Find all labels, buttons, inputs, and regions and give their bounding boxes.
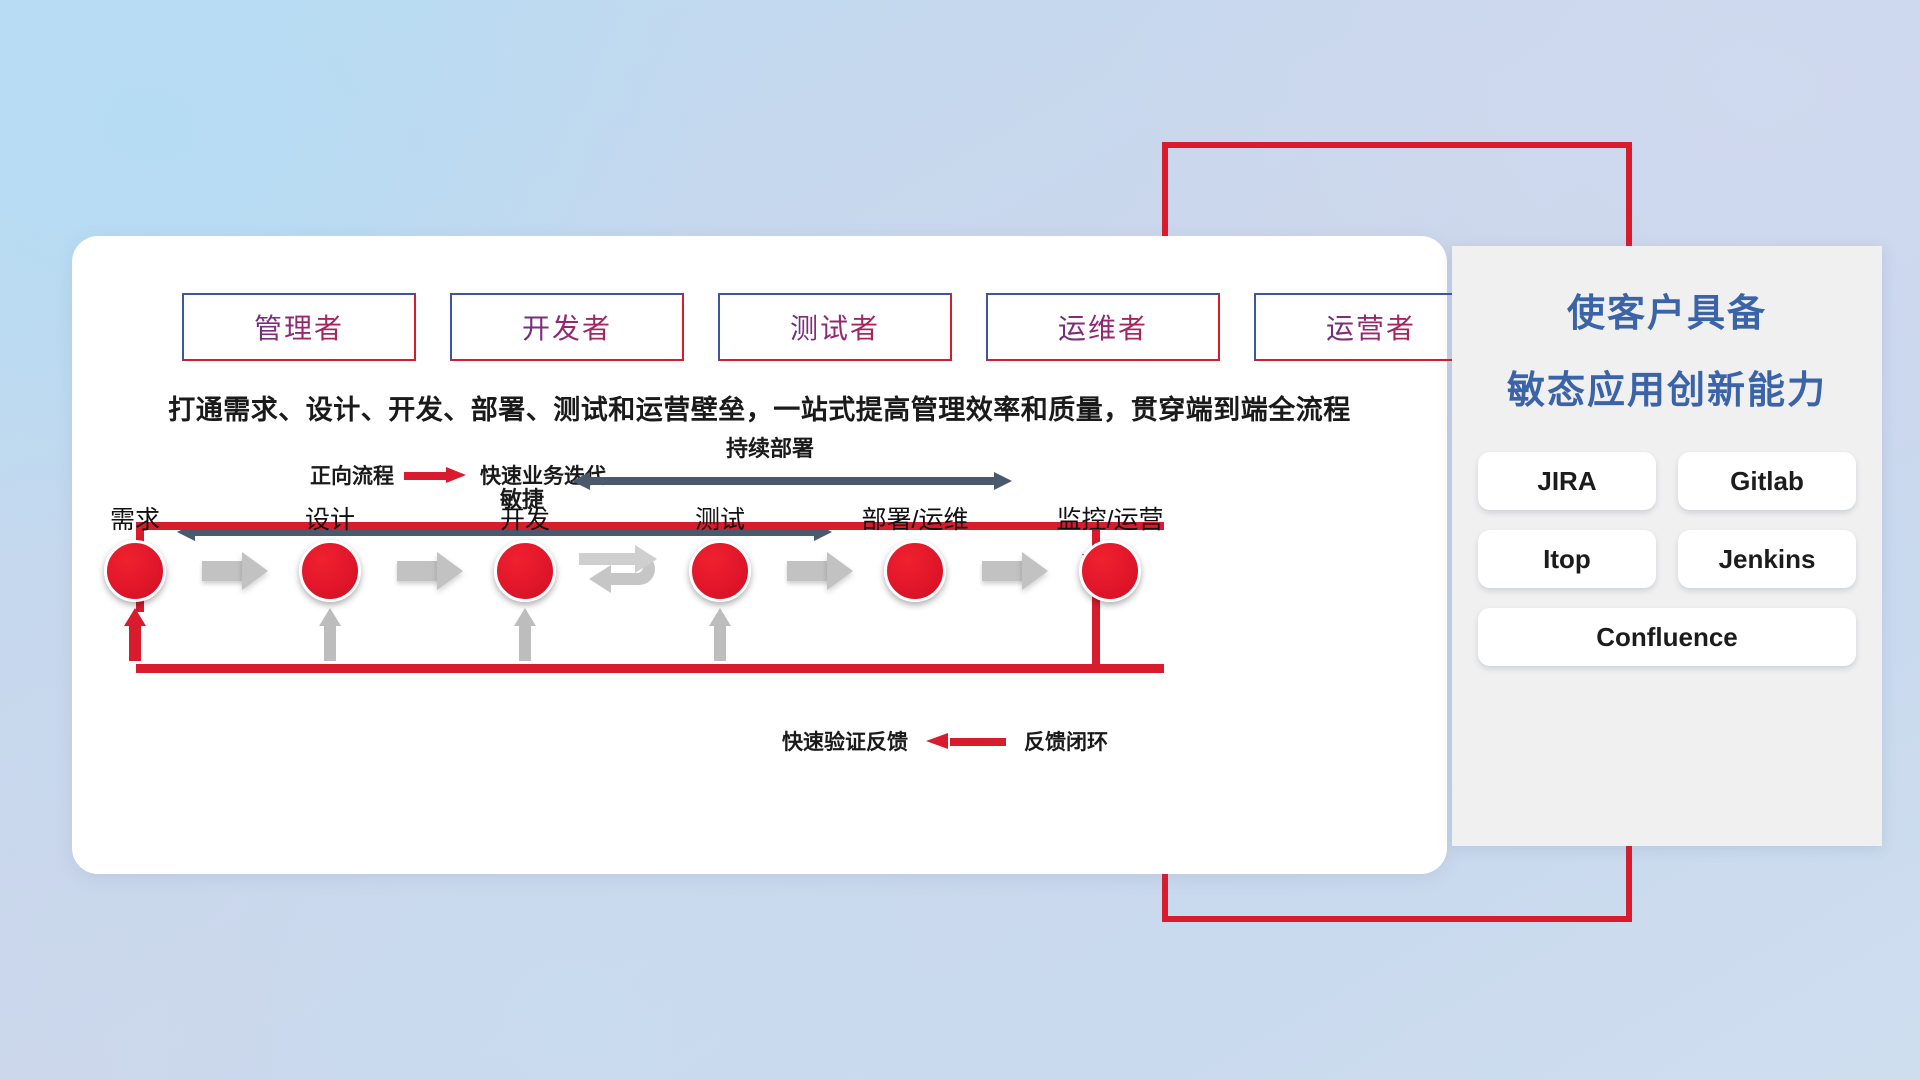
stage-monitor-operate-label: 监控/运营 [1057,500,1164,536]
tool-badge-jenkins[interactable]: Jenkins [1678,530,1856,588]
pipeline: 需求 设计 开发 测试 [72,236,1447,874]
stage-node-dot [104,540,166,602]
slide-canvas: 管理者 开发者 测试者 运维者 运营者 打通需求、设计、开发、部署、测试和运营壁… [0,0,1920,1080]
flow-arrow-3 [787,552,853,590]
value-proposition-panel: 使客户具备 敏态应用创新能力 JIRA Gitlab Itop Jenkins … [1452,246,1882,846]
stage-node-dot [884,540,946,602]
stage-deploy-ops-label: 部署/运维 [862,500,969,536]
stage-requirement-label: 需求 [110,500,160,536]
stage-deploy-ops[interactable]: 部署/运维 [884,540,946,602]
stage-requirement[interactable]: 需求 [104,540,166,602]
flow-arrow-2 [397,552,463,590]
panel-title-line1: 使客户具备 [1452,282,1882,337]
stage-test[interactable]: 测试 [689,540,751,602]
flow-arrow-4 [982,552,1048,590]
iteration-loopback-icon [577,541,673,601]
tool-badge-confluence[interactable]: Confluence [1478,608,1856,666]
stage-design-label: 设计 [305,500,355,536]
legend-feedback-left-label: 快速验证反馈 [782,726,908,756]
flow-arrow-1 [202,552,268,590]
devops-overview-card: 管理者 开发者 测试者 运维者 运营者 打通需求、设计、开发、部署、测试和运营壁… [72,236,1447,874]
stage-node-dot [689,540,751,602]
stage-test-label: 测试 [695,500,745,536]
stage-develop-label: 开发 [500,500,550,536]
tool-badge-gitlab[interactable]: Gitlab [1678,452,1856,510]
stage-monitor-operate[interactable]: 监控/运营 [1079,540,1141,602]
stage-node-dot [299,540,361,602]
tool-badge-list: JIRA Gitlab Itop Jenkins Confluence [1452,452,1882,666]
arrow-left-red-icon [926,735,1006,748]
tool-badge-jira[interactable]: JIRA [1478,452,1656,510]
stage-node-dot [1079,540,1141,602]
stage-design[interactable]: 设计 [299,540,361,602]
legend-feedback-loop: 快速验证反馈 反馈闭环 [782,726,1108,756]
stage-develop[interactable]: 开发 [494,540,556,602]
panel-title: 使客户具备 敏态应用创新能力 [1452,282,1882,414]
legend-feedback-right-label: 反馈闭环 [1024,726,1108,756]
tool-badge-itop[interactable]: Itop [1478,530,1656,588]
stage-node-dot [494,540,556,602]
panel-title-line2: 敏态应用创新能力 [1452,359,1882,414]
